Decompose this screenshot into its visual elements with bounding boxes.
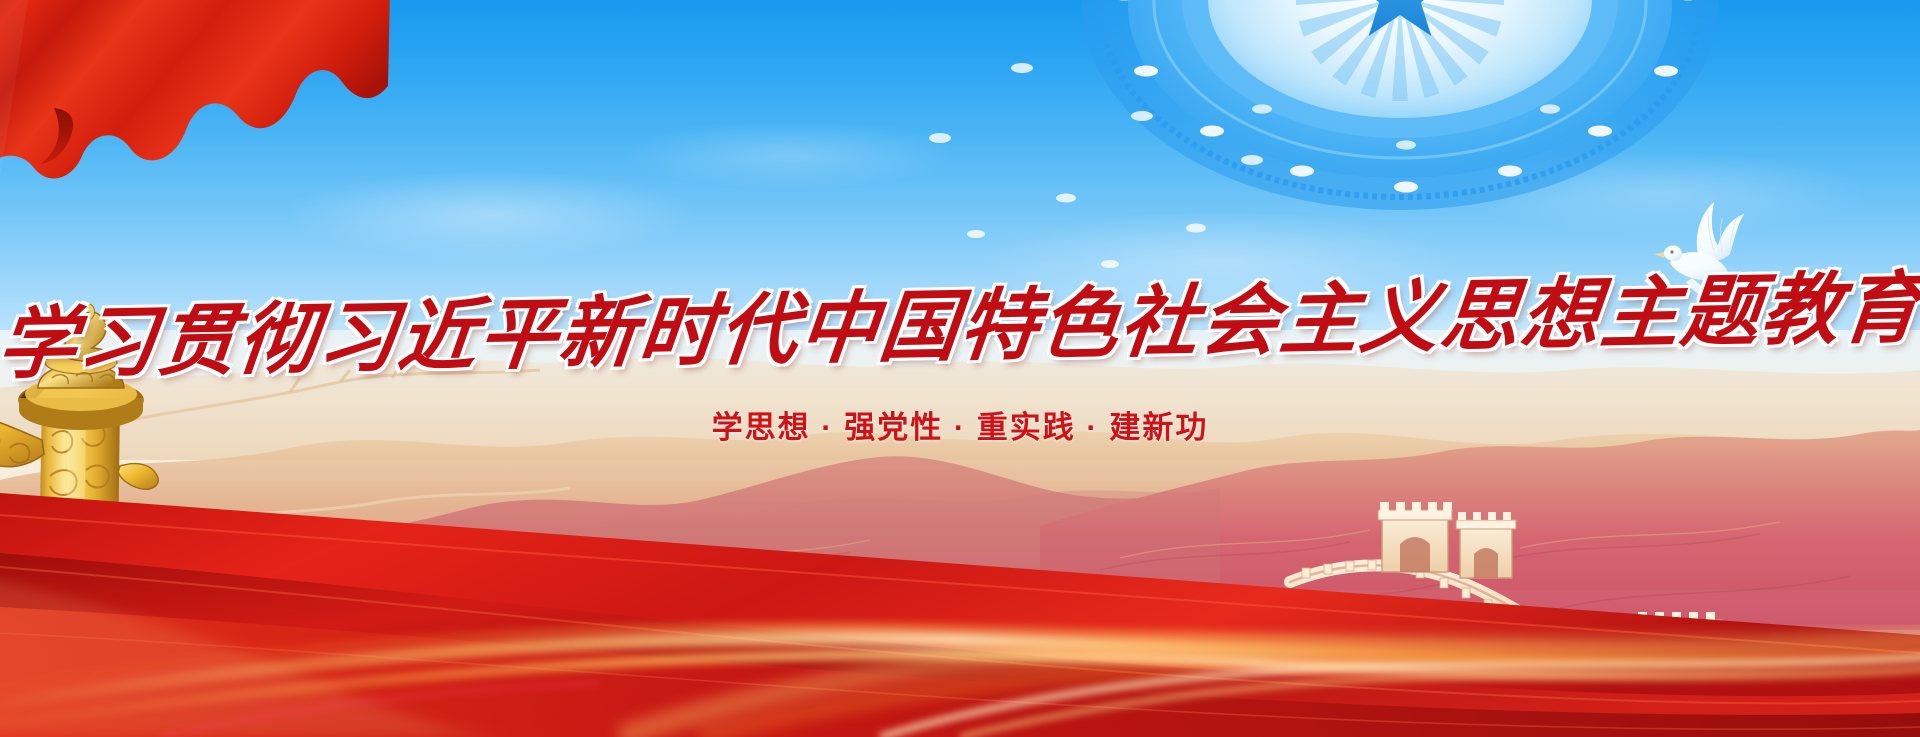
mountain-and-great-wall-scenery (0, 330, 1920, 737)
watchtower (1456, 512, 1516, 578)
watchtower (1378, 502, 1452, 572)
propaganda-banner: 学习贯彻习近平新时代中国特色社会主义思想主题教育 学思想 · 强党性 · 重实践… (0, 0, 1920, 737)
